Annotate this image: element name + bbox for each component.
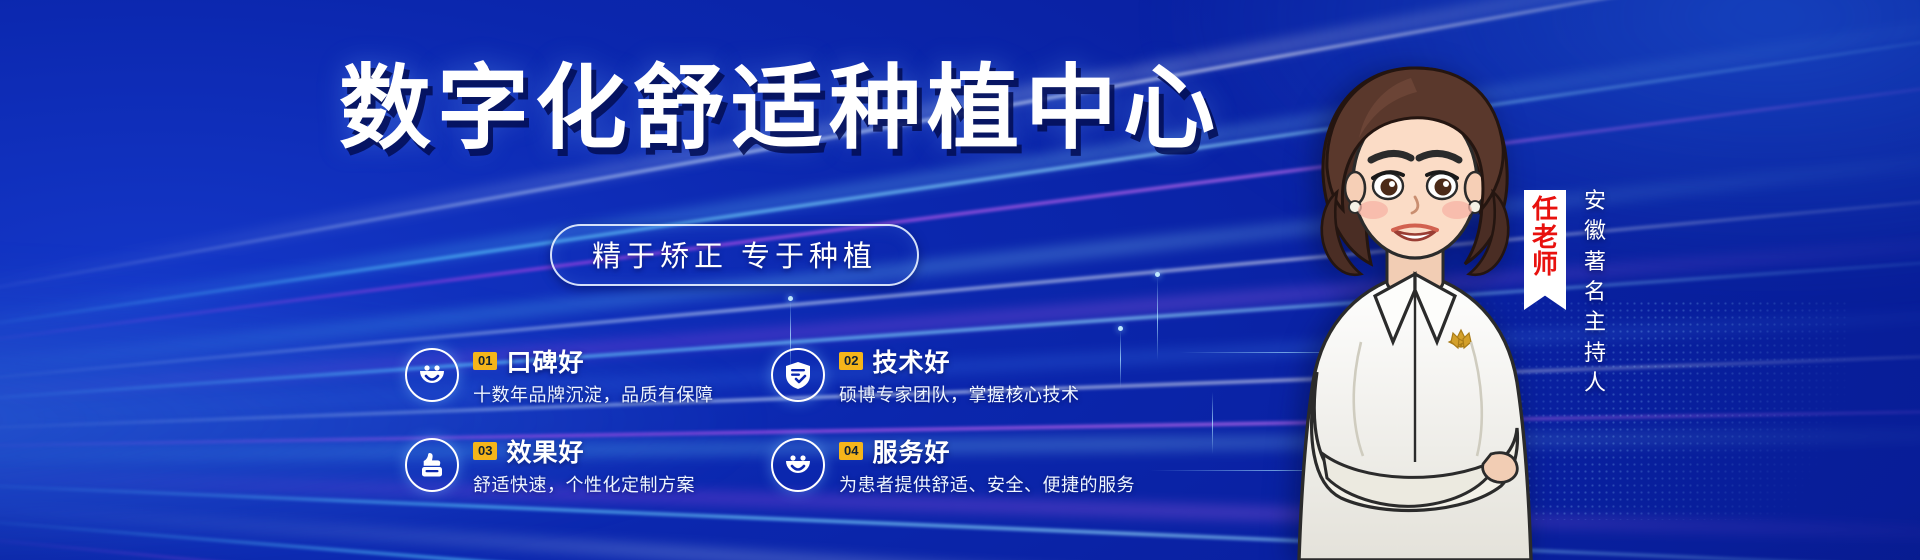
dental-promo-banner: 数字化舒适种植中心 精于矫正 专于种植 01 口碑好 十数年品牌沉淀，品质有保障: [0, 0, 1920, 560]
vignette-overlay: [0, 0, 1920, 560]
